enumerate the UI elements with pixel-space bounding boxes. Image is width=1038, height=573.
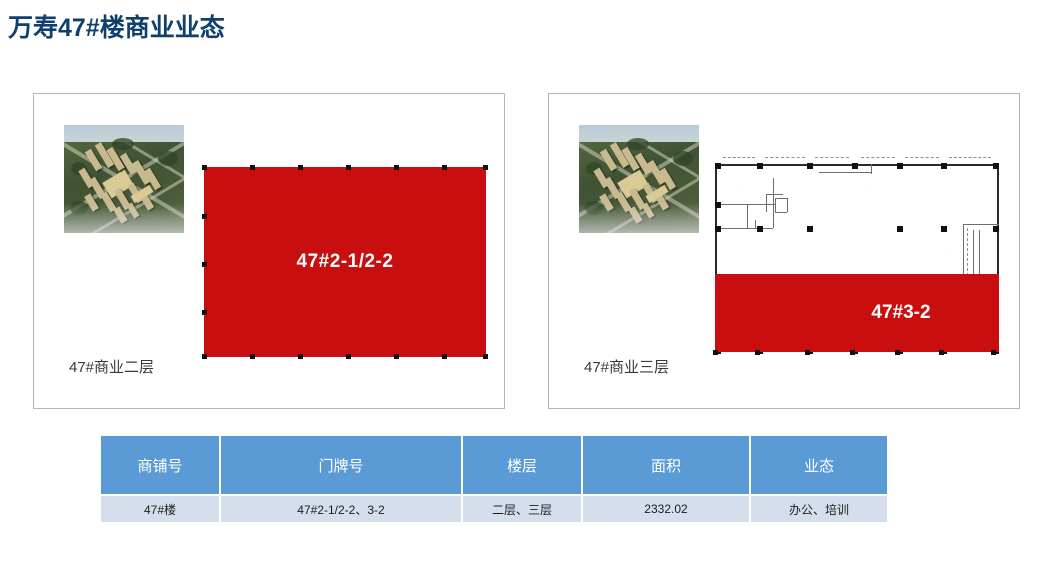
zone-handle xyxy=(895,350,900,355)
zone-label-floor2: 47#2-1/2-2 xyxy=(297,251,394,273)
zone-handle xyxy=(346,165,351,170)
zone-handle xyxy=(298,165,303,170)
plan-shaft-dashed xyxy=(967,228,968,276)
zone-handle xyxy=(755,350,760,355)
plan-wall-right xyxy=(997,164,999,279)
plan-column xyxy=(807,226,813,232)
plan-door-swing xyxy=(755,220,756,228)
zone-handle xyxy=(483,165,488,170)
plan-annotation: ··· xyxy=(737,186,740,190)
column-header-floor: 楼层 xyxy=(463,436,581,494)
plan-room-wall xyxy=(766,194,783,195)
plan-column xyxy=(941,226,947,232)
business-format-table: 商铺号 门牌号 楼层 面积 业态 47#楼 47#2-1/2-2、3-2 二层、… xyxy=(99,434,889,524)
plan-interior-wall xyxy=(819,172,871,173)
zone-handle xyxy=(250,165,255,170)
thumbnail-tree xyxy=(673,151,693,166)
plan-room-wall xyxy=(766,194,767,212)
plan-interior-wall xyxy=(871,164,872,174)
plan-shaft-wall xyxy=(963,224,964,276)
aerial-render-thumbnail xyxy=(579,125,699,233)
plan-column xyxy=(757,163,763,169)
plan-room-wall xyxy=(787,198,788,212)
plan-column xyxy=(941,163,947,169)
plan-column xyxy=(897,226,903,232)
cell-area: 2332.02 xyxy=(583,496,749,522)
plan-shaft-wall xyxy=(963,224,999,225)
zone-handle xyxy=(991,350,996,355)
plan-dimension-line xyxy=(861,157,895,158)
cell-door-no: 47#2-1/2-2、3-2 xyxy=(221,496,461,522)
cell-floor: 二层、三层 xyxy=(463,496,581,522)
table-row: 47#楼 47#2-1/2-2、3-2 二层、三层 2332.02 办公、培训 xyxy=(101,496,887,522)
zone-handle xyxy=(202,214,207,219)
floor2-panel: 47#2-1/2-2 47#商业二层 xyxy=(33,93,505,409)
zone-block-floor2: 47#2-1/2-2 xyxy=(204,167,486,357)
zone-handle xyxy=(202,354,207,359)
floor3-panel: ··· ··· · ··· 47#3-2 47#商业三层 xyxy=(548,93,1020,409)
plan-column xyxy=(715,202,721,208)
column-header-area: 面积 xyxy=(583,436,749,494)
plan-room-wall xyxy=(775,198,787,199)
zone-handle xyxy=(346,354,351,359)
zone-handle xyxy=(442,165,447,170)
column-header-business: 业态 xyxy=(751,436,887,494)
plan-shaft-wall xyxy=(979,230,980,276)
floor3-caption: 47#商业三层 xyxy=(584,356,669,377)
zone-block-floor3: 47#3-2 xyxy=(715,274,999,352)
table-header-row: 商铺号 门牌号 楼层 面积 业态 xyxy=(101,436,887,494)
plan-dimension-line xyxy=(765,157,805,158)
zone-handle xyxy=(202,165,207,170)
plan-annotation: ··· xyxy=(867,184,870,188)
zone-handle xyxy=(394,354,399,359)
plan-column xyxy=(807,163,813,169)
plan-shaft-wall xyxy=(973,230,974,276)
column-header-door-no: 门牌号 xyxy=(221,436,461,494)
zone-handle xyxy=(202,310,207,315)
thumbnail-tree xyxy=(627,138,649,150)
plan-dimension-line xyxy=(815,157,849,158)
cell-business: 办公、培训 xyxy=(751,496,887,522)
aerial-render-thumbnail xyxy=(64,125,184,233)
plan-column xyxy=(715,163,721,169)
zone-handle xyxy=(850,350,855,355)
plan-column xyxy=(993,226,999,232)
plan-annotation: ··· xyxy=(943,246,946,250)
zone-handle xyxy=(250,354,255,359)
floor2-caption: 47#商业二层 xyxy=(69,356,154,377)
zone-handle xyxy=(298,354,303,359)
plan-column xyxy=(993,163,999,169)
zone-label-floor3: 47#3-2 xyxy=(871,302,930,324)
zone-handle xyxy=(394,165,399,170)
plan-column xyxy=(852,163,858,169)
floor-plan-drawing: ··· ··· · ··· 47#3-2 xyxy=(715,164,999,369)
zone-handle xyxy=(713,350,718,355)
plan-room-wall xyxy=(775,198,776,212)
plan-room-wall xyxy=(717,228,773,229)
zone-handle xyxy=(202,262,207,267)
plan-dimension-line xyxy=(905,157,939,158)
column-header-shop-no: 商铺号 xyxy=(101,436,219,494)
page-title: 万寿47#楼商业业态 xyxy=(8,8,225,44)
thumbnail-haze xyxy=(64,203,184,233)
thumbnail-tree xyxy=(158,151,178,166)
zone-handle xyxy=(805,350,810,355)
cell-shop-no: 47#楼 xyxy=(101,496,219,522)
thumbnail-haze xyxy=(579,203,699,233)
plan-column xyxy=(715,226,721,232)
thumbnail-tree xyxy=(112,138,134,150)
plan-column xyxy=(897,163,903,169)
plan-room-wall xyxy=(775,212,787,213)
zone-handle xyxy=(939,350,944,355)
plan-annotation: · xyxy=(825,242,826,246)
plan-column xyxy=(757,226,763,232)
plan-room-wall xyxy=(747,204,748,228)
zone-handle xyxy=(442,354,447,359)
plan-dimension-line xyxy=(723,157,755,158)
plan-dimension-line xyxy=(949,157,991,158)
zone-handle xyxy=(483,354,488,359)
plan-room-wall xyxy=(773,178,774,228)
